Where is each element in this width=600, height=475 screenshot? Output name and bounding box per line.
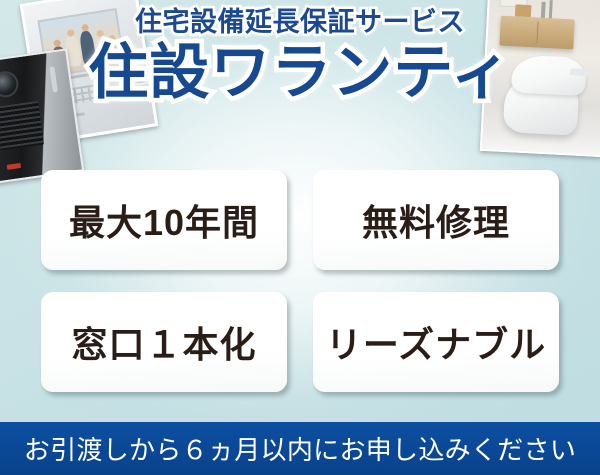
feature-label: リーズナブル bbox=[326, 316, 546, 368]
feature-box-single-contact[interactable]: 窓口１本化 bbox=[41, 292, 287, 392]
application-deadline-bar: お引渡しから６ヵ月以内にお申し込みください bbox=[0, 422, 600, 475]
warranty-service-banner: 住宅設備延長保証サービス 住設ワランティ 最大10年間 無料修理 窓口１本化 リ… bbox=[0, 0, 600, 475]
application-deadline-text: お引渡しから６ヵ月以内にお申し込みください bbox=[24, 430, 576, 467]
service-title: 住設ワランティ bbox=[0, 41, 600, 106]
doorphone-call-button bbox=[7, 163, 22, 170]
feature-label: 無料修理 bbox=[362, 194, 510, 246]
doorphone-speaker-grille bbox=[0, 101, 44, 151]
feature-box-grid: 最大10年間 無料修理 窓口１本化 リーズナブル bbox=[41, 170, 559, 392]
feature-box-reasonable[interactable]: リーズナブル bbox=[313, 292, 559, 392]
service-subtitle: 住宅設備延長保証サービス bbox=[0, 8, 600, 38]
feature-box-free-repair[interactable]: 無料修理 bbox=[313, 170, 559, 270]
feature-label: 最大10年間 bbox=[69, 194, 259, 246]
headline-block: 住宅設備延長保証サービス 住設ワランティ bbox=[0, 8, 600, 105]
feature-box-max-years[interactable]: 最大10年間 bbox=[41, 170, 287, 270]
feature-label: 窓口１本化 bbox=[71, 316, 256, 368]
